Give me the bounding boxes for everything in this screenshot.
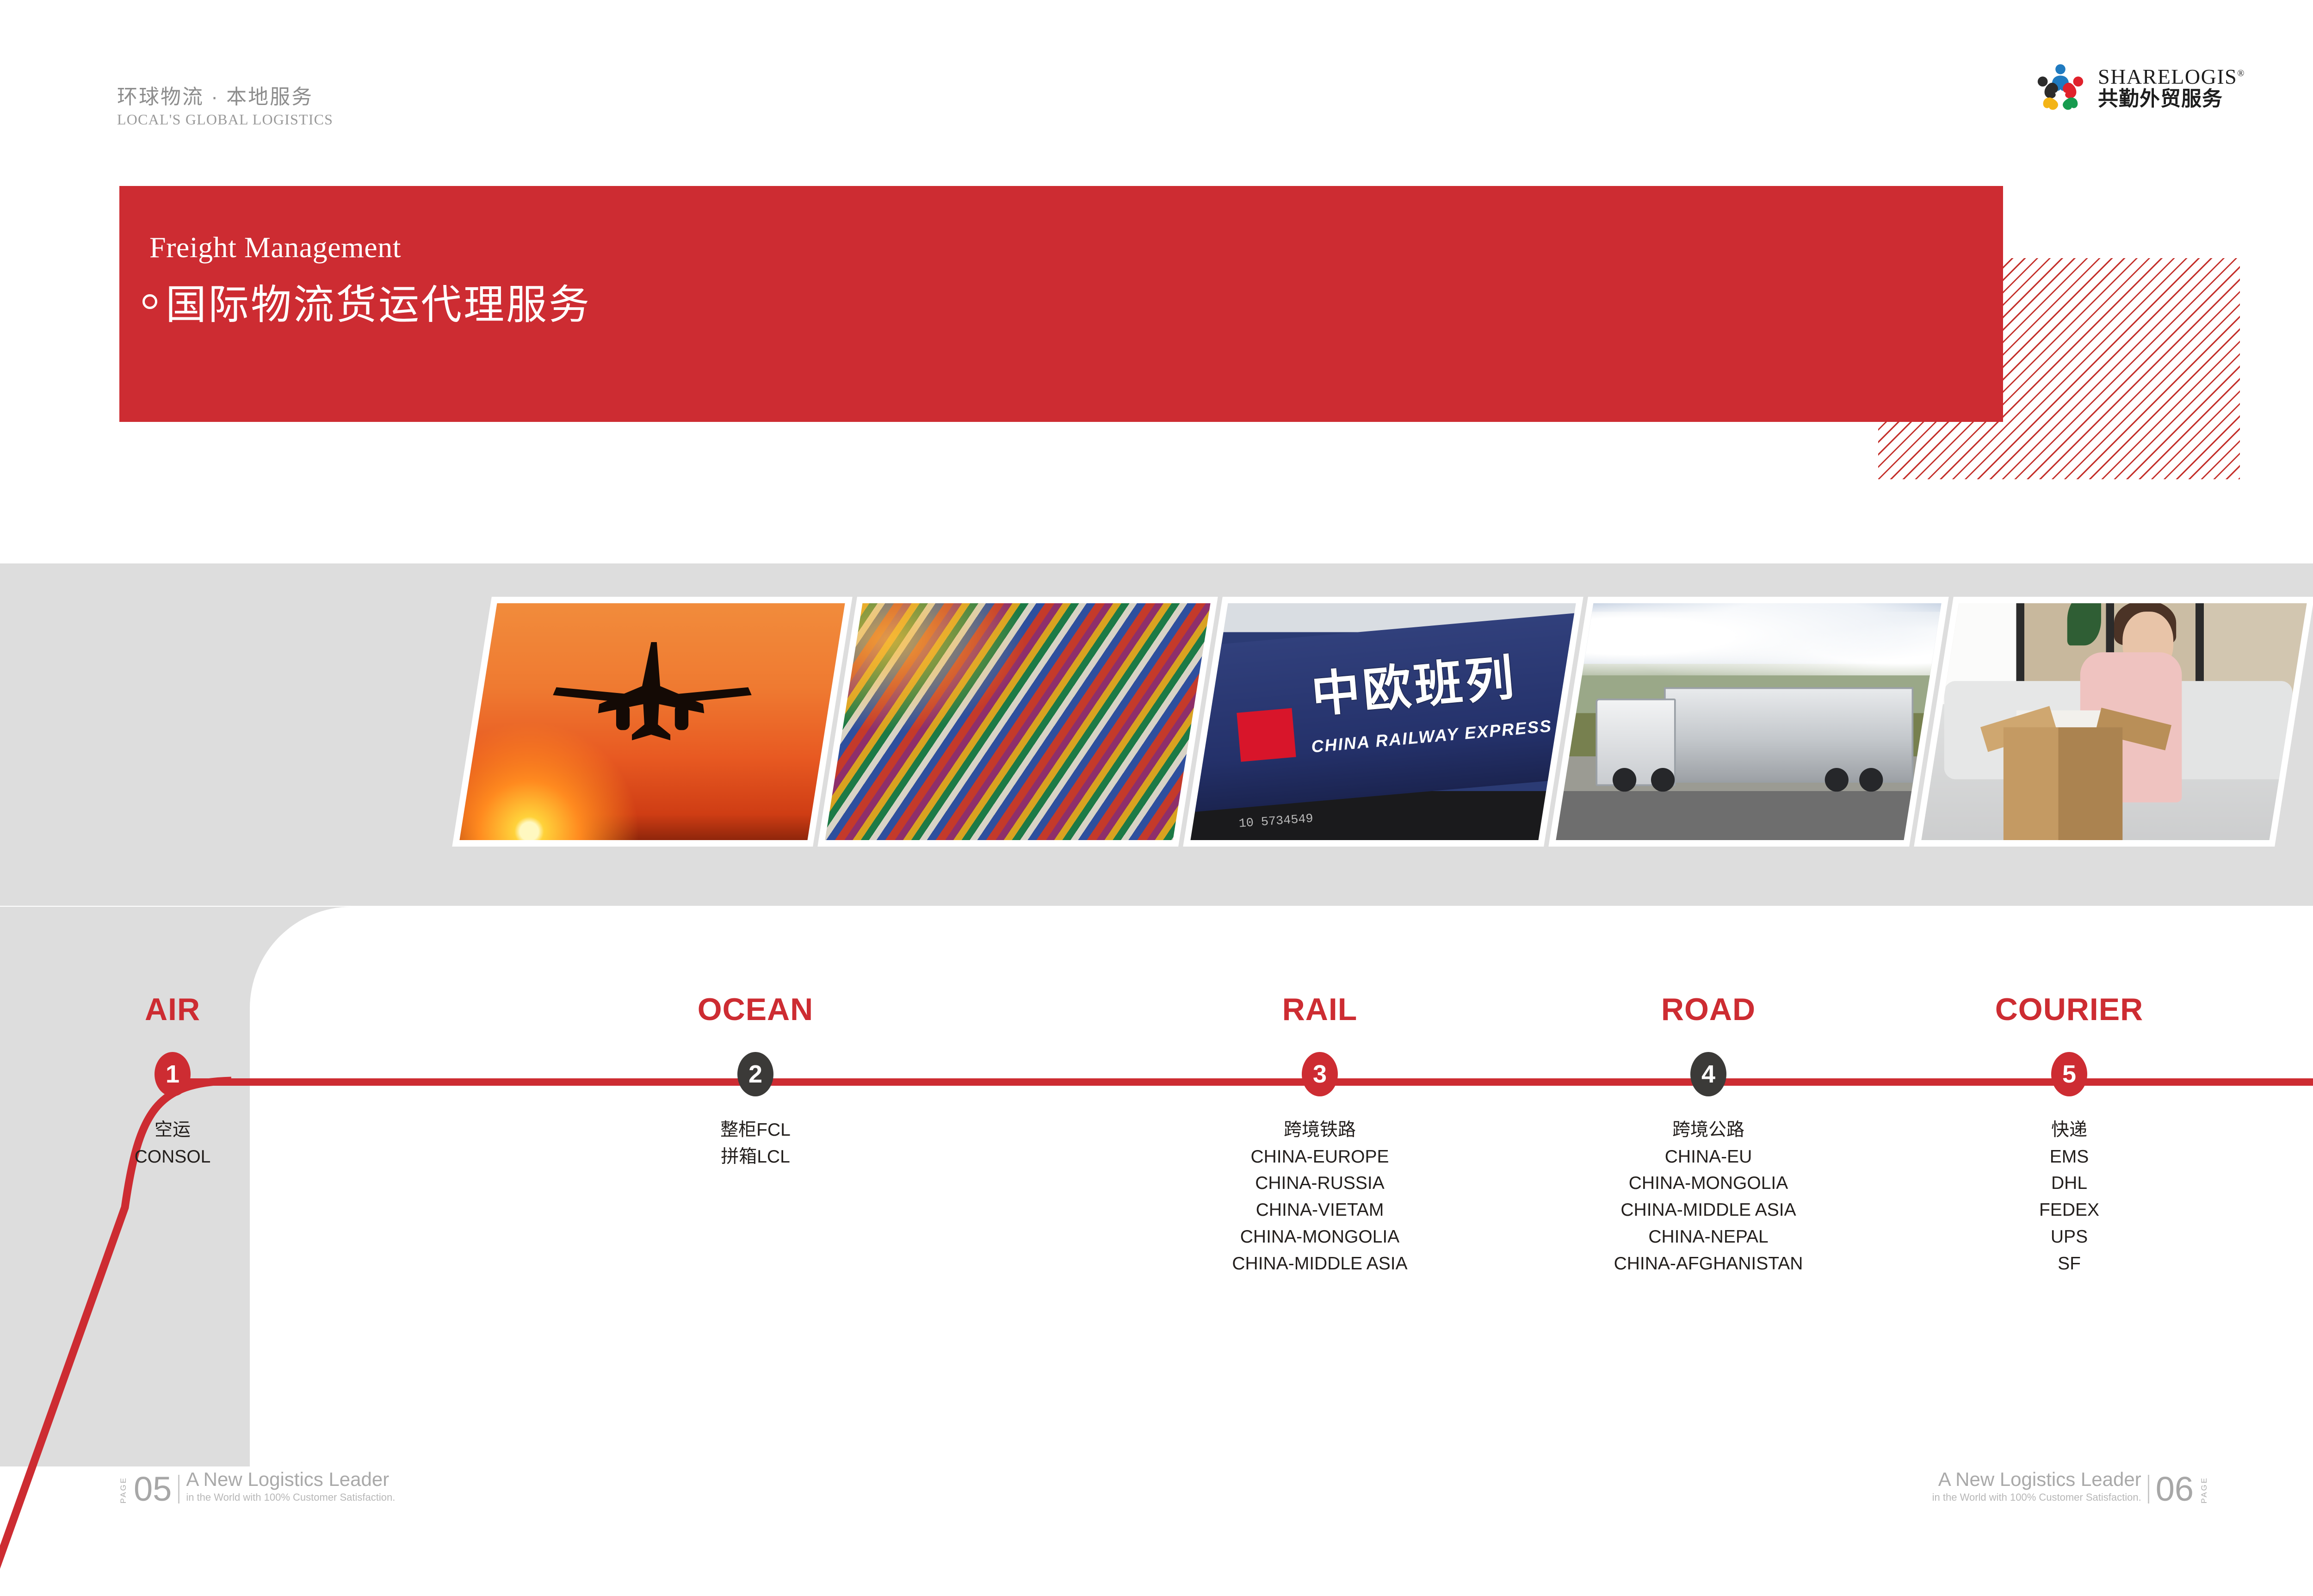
timeline-badge-1[interactable]: 1 — [155, 1052, 191, 1096]
page-label: PAGE — [119, 1474, 127, 1503]
logo-sub-text: 共勤外贸服务 — [2098, 89, 2245, 109]
airplane-silhouette-icon — [506, 619, 799, 766]
list-item: CHINA-MIDDLE ASIA — [1579, 1197, 1838, 1224]
list-item: CHINA-VIETAM — [1190, 1197, 1449, 1224]
courier-photo — [1914, 597, 2313, 847]
air-photo — [452, 597, 853, 847]
timeline-badge-2[interactable]: 2 — [737, 1052, 773, 1096]
list-item: CHINA-EUROPE — [1190, 1144, 1449, 1170]
tagline-chinese: 环球物流 · 本地服务 — [117, 86, 333, 109]
tagline-english: LOCAL'S GLOBAL LOGISTICS — [117, 111, 333, 128]
logo-brand-text: SHARELOGIS® — [2098, 66, 2245, 87]
list-item: 拼箱LCL — [626, 1144, 885, 1170]
timeline-column-road: ROAD 4 跨境公路 CHINA-EU CHINA-MONGOLIA CHIN… — [1579, 994, 1838, 1277]
list-item: CHINA-MONGOLIA — [1579, 1170, 1838, 1197]
page-number: 05 — [134, 1475, 172, 1503]
list-item: CHINA-AFGHANISTAN — [1579, 1250, 1838, 1277]
page-number: 06 — [2156, 1475, 2194, 1503]
section-banner: Freight Management 国际物流货运代理服务 — [119, 186, 2003, 422]
list-item: CHINA-RUSSIA — [1190, 1170, 1449, 1197]
column-items: 跨境公路 CHINA-EU CHINA-MONGOLIA CHINA-MIDDL… — [1579, 1117, 1838, 1277]
page-label: PAGE — [2200, 1474, 2208, 1503]
china-railway-logo-icon — [1237, 708, 1296, 761]
timeline-column-air: AIR 1 空运 CONSOL — [43, 994, 302, 1170]
footer-right: A New Logistics Leader in the World with… — [1932, 1470, 2208, 1504]
list-item: DHL — [1940, 1170, 2199, 1197]
rail-photo: 中欧班列 CHINA RAILWAY EXPRESS 10 5734549 — [1183, 597, 1583, 847]
banner-title-chinese: 国际物流货运代理服务 — [166, 272, 591, 331]
timeline-column-courier: COURIER 5 快递 EMS DHL FEDEX UPS SF — [1940, 994, 2199, 1277]
list-item: 快递 — [1940, 1117, 2199, 1144]
timeline-badge-3[interactable]: 3 — [1302, 1052, 1338, 1096]
ocean-photo — [817, 597, 1218, 847]
column-items: 空运 CONSOL — [43, 1117, 302, 1170]
column-title: AIR — [43, 994, 302, 1025]
photo-strip: 中欧班列 CHINA RAILWAY EXPRESS 10 5734549 — [0, 597, 2313, 847]
column-items: 快递 EMS DHL FEDEX UPS SF — [1940, 1117, 2199, 1277]
footer-tagline-line2: in the World with 100% Customer Satisfac… — [1932, 1491, 2141, 1504]
column-title: ROAD — [1579, 994, 1838, 1025]
footer-tagline-line2: in the World with 100% Customer Satisfac… — [186, 1491, 395, 1504]
circle-bullet-icon — [142, 294, 157, 309]
footer-left: PAGE 05 A New Logistics Leader in the Wo… — [119, 1470, 395, 1504]
list-item: SF — [1940, 1250, 2199, 1277]
list-item: CONSOL — [43, 1144, 302, 1170]
sharelogis-people-circle-icon — [2033, 60, 2088, 115]
registered-mark-icon: ® — [2237, 68, 2245, 78]
list-item: CHINA-MIDDLE ASIA — [1190, 1250, 1449, 1277]
column-items: 整柜FCL 拼箱LCL — [626, 1117, 885, 1170]
list-item: CHINA-NEPAL — [1579, 1224, 1838, 1250]
list-item: 整柜FCL — [626, 1117, 885, 1144]
footer-divider — [2148, 1475, 2149, 1503]
company-logo: SHARELOGIS® 共勤外贸服务 — [2033, 60, 2245, 115]
list-item: UPS — [1940, 1224, 2199, 1250]
timeline-column-ocean: OCEAN 2 整柜FCL 拼箱LCL — [626, 994, 885, 1170]
list-item: CHINA-EU — [1579, 1144, 1838, 1170]
footer-tagline-line1: A New Logistics Leader — [1932, 1470, 2141, 1489]
list-item: FEDEX — [1940, 1197, 2199, 1224]
list-item: 跨境公路 — [1579, 1117, 1838, 1144]
list-item: CHINA-MONGOLIA — [1190, 1224, 1449, 1250]
footer-tagline-line1: A New Logistics Leader — [186, 1470, 395, 1489]
column-title: OCEAN — [626, 994, 885, 1025]
footer-divider — [178, 1475, 179, 1503]
column-title: COURIER — [1940, 994, 2199, 1025]
list-item: EMS — [1940, 1144, 2199, 1170]
rail-wagon-number: 10 5734549 — [1238, 811, 1314, 831]
header-tagline: 环球物流 · 本地服务 LOCAL'S GLOBAL LOGISTICS — [117, 86, 333, 128]
timeline-badge-4[interactable]: 4 — [1690, 1052, 1726, 1096]
column-title: RAIL — [1190, 994, 1449, 1025]
list-item: 空运 — [43, 1117, 302, 1144]
banner-title-chinese-row: 国际物流货运代理服务 — [142, 272, 591, 331]
timeline-column-rail: RAIL 3 跨境铁路 CHINA-EUROPE CHINA-RUSSIA CH… — [1190, 994, 1449, 1277]
road-photo — [1548, 597, 1949, 847]
banner-title-english: Freight Management — [149, 230, 401, 265]
timeline-badge-5[interactable]: 5 — [2051, 1052, 2087, 1096]
list-item: 跨境铁路 — [1190, 1117, 1449, 1144]
column-items: 跨境铁路 CHINA-EUROPE CHINA-RUSSIA CHINA-VIE… — [1190, 1117, 1449, 1277]
